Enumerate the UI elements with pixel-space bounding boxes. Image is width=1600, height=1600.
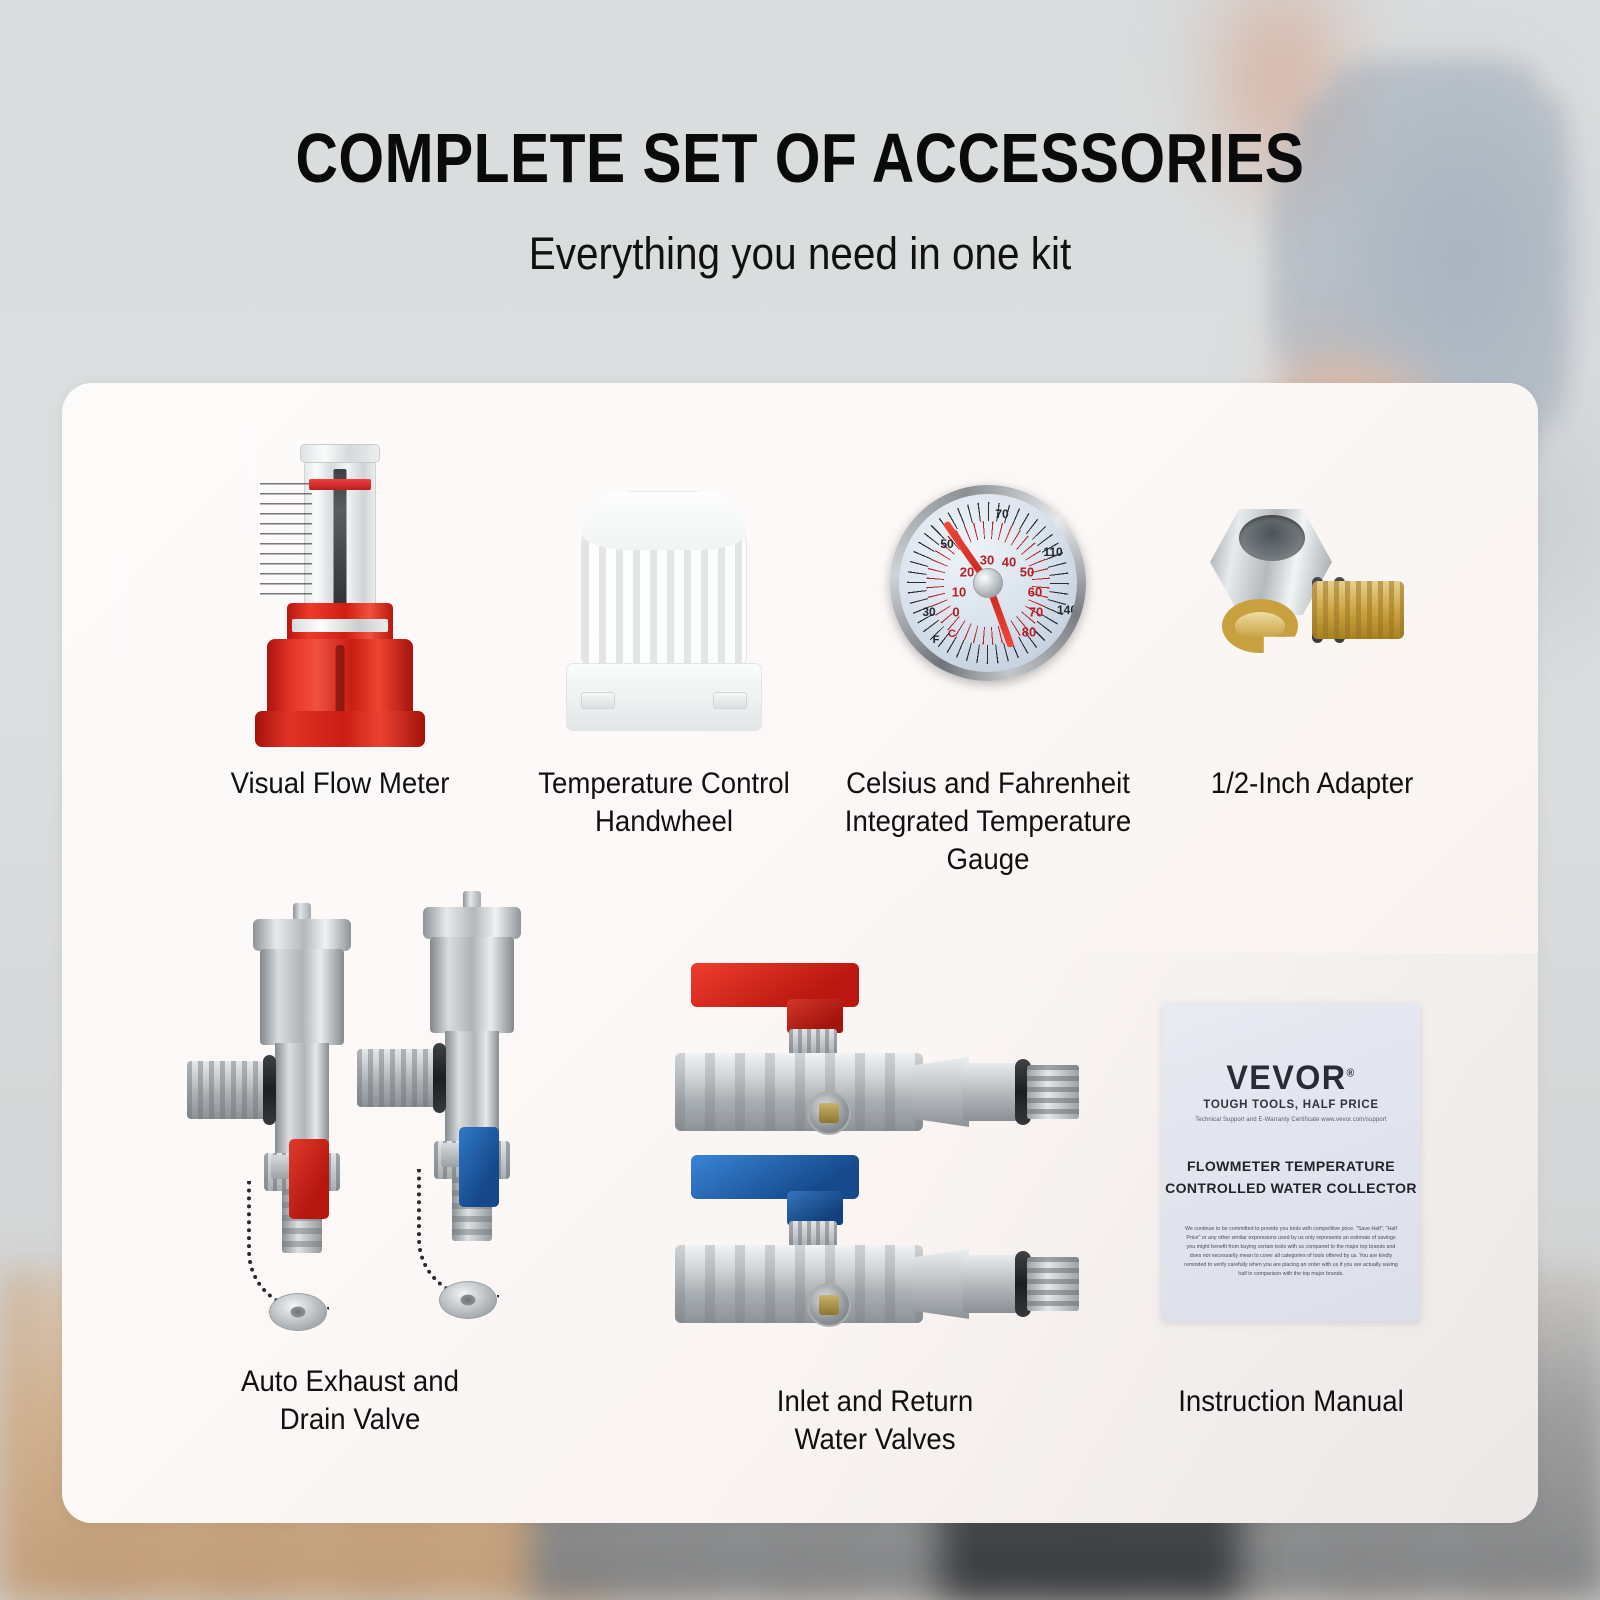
gauge-tick-c: 50 [1020,565,1034,580]
gauge-tick-c: 40 [1002,555,1016,570]
temperature-gauge-icon: 30 50 70 110 140 F 0 10 20 30 40 50 60 7… [888,485,1088,685]
gauge-tick-c: 30 [980,553,994,568]
registered-mark: ® [1347,1068,1356,1080]
item-instruction-manual[interactable]: VEVOR® TOUGH TOOLS, HALF PRICE Technical… [1110,983,1470,1443]
gauge-tick-c: 0 [952,605,959,620]
gauge-tick-f: 30 [922,605,935,619]
manual-heading-line2: CONTROLLED WATER COLLECTOR [1162,1177,1420,1199]
valve-handle-red[interactable] [691,963,859,1007]
item-auto-exhaust-drain-valve[interactable]: Auto Exhaust and Drain Valve [175,883,585,1463]
item-caption: Auto Exhaust and Drain Valve [198,1363,502,1439]
valve-handle-blue[interactable] [691,1155,859,1199]
cap-disc-icon [439,1281,497,1319]
item-caption: Visual Flow Meter [188,765,492,803]
gauge-unit-f: F [933,634,940,646]
gauge-tick-f: 140 [1057,603,1077,617]
item-caption: 1/2-Inch Adapter [1160,765,1464,803]
exhaust-valve-icon [227,903,377,1343]
gauge-tick-c: 10 [952,585,966,600]
accessories-card: Visual Flow Meter Temperature Control Ha… [62,383,1538,1523]
gauge-tick-c: 70 [1029,605,1043,620]
gauge-unit-c: C [948,628,956,640]
item-inlet-return-water-valves[interactable]: Inlet and Return Water Valves [647,943,1077,1463]
cap-chain-icon [247,1181,329,1311]
ball-valve-icon [667,1155,1087,1335]
manual-support: Technical Support and E-Warranty Certifi… [1162,1117,1420,1123]
gauge-tick-c: 80 [1022,625,1036,640]
hex-nut-bore [1239,515,1305,561]
cap-disc-icon [269,1293,327,1331]
flow-meter-icon [250,453,430,753]
item-caption: Instruction Manual [1139,1383,1443,1421]
cap-chain-icon [417,1169,499,1299]
item-visual-flow-meter[interactable]: Visual Flow Meter [175,443,505,833]
vevor-logo: VEVOR® [1168,1059,1413,1098]
adapter-icon [1192,501,1432,681]
item-caption: Temperature Control Handwheel [512,765,816,841]
page-title: COMPLETE SET OF ACCESSORIES [128,118,1472,198]
item-caption: Celsius and Fahrenheit Integrated Temper… [836,765,1140,879]
gauge-hub [973,568,1003,598]
handwheel-icon [564,491,764,737]
manual-body-text: We continue to be committed to provide y… [1184,1225,1398,1279]
item-caption: Inlet and Return Water Valves [723,1383,1027,1459]
brass-split-ring-icon [1222,599,1298,653]
item-half-inch-adapter[interactable]: 1/2-Inch Adapter [1147,443,1477,833]
manual-tagline: TOUGH TOOLS, HALF PRICE [1162,1099,1420,1111]
gauge-tick-f: 110 [1043,545,1062,559]
gauge-tick-f: 50 [940,537,953,551]
manual-icon: VEVOR® TOUGH TOOLS, HALF PRICE Technical… [1162,1003,1420,1321]
manual-heading: FLOWMETER TEMPERATURE CONTROLLED WATER C… [1162,1155,1420,1200]
gauge-tick-c: 60 [1028,585,1042,600]
manual-heading-line1: FLOWMETER TEMPERATURE [1162,1155,1420,1177]
brass-barb-icon [1312,581,1404,639]
page-subtitle: Everything you need in one kit [80,228,1520,280]
item-temperature-gauge[interactable]: 30 50 70 110 140 F 0 10 20 30 40 50 60 7… [823,443,1153,833]
item-temperature-control-handwheel[interactable]: Temperature Control Handwheel [499,443,829,833]
gauge-tick-f: 70 [995,507,1008,521]
vevor-wordmark: VEVOR [1226,1059,1346,1097]
ball-valve-icon [667,963,1087,1143]
exhaust-valve-icon [397,891,547,1331]
